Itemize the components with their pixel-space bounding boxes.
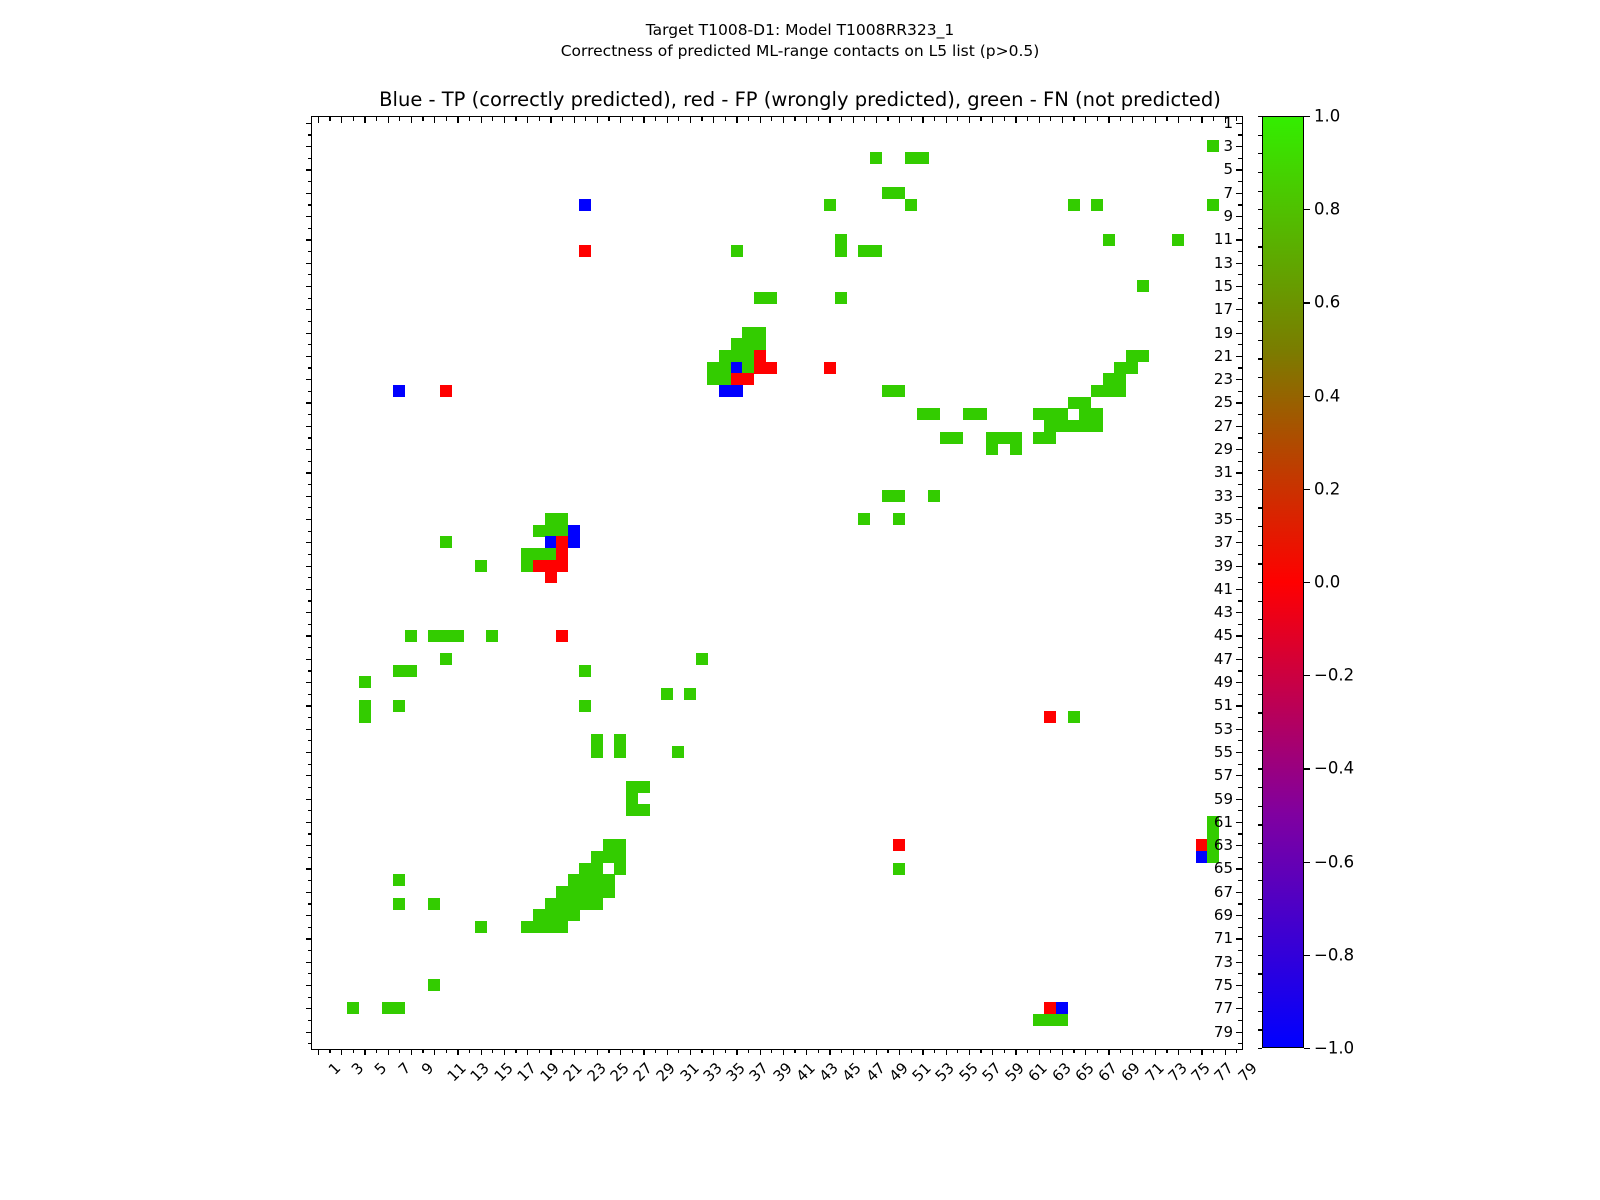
y-axis-tick-right [1238, 391, 1242, 392]
x-axis-tick [411, 1049, 412, 1055]
y-axis-tick [308, 274, 312, 275]
contact-cell [393, 385, 405, 397]
x-axis-tick [853, 1049, 854, 1055]
y-axis-tick-right [1238, 670, 1242, 671]
x-axis-tick [1190, 1049, 1191, 1053]
y-axis-tick [306, 752, 312, 753]
colorbar-minor-tick [1258, 470, 1262, 471]
colorbar-minor-tick [1258, 116, 1262, 117]
y-axis-tick-right [1236, 729, 1242, 730]
contact-cell [1126, 350, 1138, 362]
contact-cell [614, 863, 626, 875]
contact-cell [545, 571, 557, 583]
contact-cell [452, 630, 464, 642]
x-axis-tick-label: 7 [394, 1059, 413, 1078]
x-axis-tick [1039, 1049, 1040, 1055]
contact-cell [986, 443, 998, 455]
y-axis-tick-right [1238, 507, 1242, 508]
colorbar-minor-tick [1258, 973, 1262, 974]
contact-cell [893, 490, 905, 502]
y-axis-tick-label: 51 [1214, 696, 1233, 714]
contact-cell [579, 245, 591, 257]
y-axis-tick-right [1236, 402, 1242, 403]
x-axis-tick-top [667, 117, 668, 123]
x-axis-tick [876, 1049, 877, 1055]
y-axis-tick-label: 43 [1214, 603, 1233, 621]
x-axis-tick [725, 1049, 726, 1053]
x-axis-tick-top [783, 117, 784, 123]
y-axis-tick-right [1238, 577, 1242, 578]
colorbar-tick [1304, 396, 1310, 397]
contact-map-plot: 1133557799111113131515171719192121232325… [311, 116, 1243, 1050]
y-axis-tick-label: 77 [1214, 999, 1233, 1017]
contact-cell [545, 513, 557, 525]
y-axis-tick [308, 600, 312, 601]
y-axis-tick [306, 426, 312, 427]
contact-cell [1068, 420, 1080, 432]
contact-cell [1056, 420, 1068, 432]
y-axis-tick-right [1238, 367, 1242, 368]
y-axis-tick-right [1236, 752, 1242, 753]
x-axis-tick [690, 1049, 691, 1055]
x-axis-tick-label: 29 [653, 1059, 679, 1085]
x-axis-tick-top [1004, 117, 1005, 121]
y-axis-tick-right [1236, 449, 1242, 450]
x-axis-tick [1143, 1049, 1144, 1053]
colorbar-minor-tick [1258, 452, 1262, 453]
contact-cell [1091, 385, 1103, 397]
colorbar-minor-tick [1258, 712, 1262, 713]
contact-cell [359, 711, 371, 723]
contact-cell [1079, 420, 1091, 432]
y-axis-tick-right [1238, 927, 1242, 928]
x-axis-tick-top [504, 117, 505, 123]
contact-cell [858, 245, 870, 257]
y-axis-tick [308, 647, 312, 648]
contact-cell [556, 898, 568, 910]
contact-cell [951, 432, 963, 444]
contact-cell [428, 979, 440, 991]
y-axis-tick [306, 472, 312, 473]
x-axis-tick [806, 1049, 807, 1055]
x-axis-tick-top [957, 117, 958, 121]
y-axis-tick-label: 9 [1223, 207, 1233, 225]
contact-cell [556, 513, 568, 525]
colorbar-minor-tick [1258, 135, 1262, 136]
colorbar-minor-tick [1258, 191, 1262, 192]
contact-cell [486, 630, 498, 642]
contact-cell [870, 245, 882, 257]
colorbar-tick [1304, 116, 1310, 117]
y-axis-tick-label: 11 [1214, 230, 1233, 248]
x-axis-tick [1213, 1049, 1214, 1053]
y-axis-tick-label: 49 [1214, 673, 1233, 691]
x-axis-tick-top [934, 117, 935, 121]
x-axis-tick-top [1073, 117, 1074, 121]
colorbar-minor-tick [1258, 1011, 1262, 1012]
y-axis-tick [306, 566, 312, 567]
y-axis-tick [306, 216, 312, 217]
y-axis-tick-label: 23 [1214, 370, 1233, 388]
y-axis-tick-right [1236, 822, 1242, 823]
y-axis-tick [308, 507, 312, 508]
contact-cell [533, 548, 545, 560]
contact-cell [591, 886, 603, 898]
y-axis-tick [308, 204, 312, 205]
contact-cell [359, 676, 371, 688]
y-axis-tick-right [1236, 519, 1242, 520]
x-axis-tick-top [806, 117, 807, 123]
y-axis-tick-right [1238, 740, 1242, 741]
y-axis-tick-right [1238, 717, 1242, 718]
x-axis-tick [911, 1049, 912, 1053]
x-axis-tick-top [1062, 117, 1063, 123]
x-axis-tick [515, 1049, 516, 1053]
y-axis-tick [306, 985, 312, 986]
y-axis-tick-label: 29 [1214, 440, 1233, 458]
colorbar-tick [1304, 582, 1310, 583]
colorbar-minor-tick [1258, 1048, 1262, 1049]
x-axis-tick-top [341, 117, 342, 123]
contact-cell [405, 665, 417, 677]
contact-cell [835, 292, 847, 304]
contact-cell [545, 909, 557, 921]
contact-cell [1033, 432, 1045, 444]
x-axis-tick-top [760, 117, 761, 123]
contact-cell [742, 338, 754, 350]
contact-cell [835, 234, 847, 246]
y-axis-tick [308, 437, 312, 438]
contact-cell [405, 630, 417, 642]
x-axis-tick-top [922, 117, 923, 123]
y-axis-tick-right [1238, 694, 1242, 695]
x-axis-tick [946, 1049, 947, 1055]
y-axis-tick-right [1238, 414, 1242, 415]
x-axis-tick [597, 1049, 598, 1055]
y-axis-tick-right [1238, 1043, 1242, 1044]
x-axis-tick [864, 1049, 865, 1053]
x-axis-tick [771, 1049, 772, 1053]
x-axis-tick-top [1213, 117, 1214, 121]
y-axis-tick [308, 484, 312, 485]
x-axis-tick-top [539, 117, 540, 121]
colorbar-minor-tick [1258, 955, 1262, 956]
y-axis-tick-right [1236, 845, 1242, 846]
contact-cell [1091, 408, 1103, 420]
x-axis-tick-top [794, 117, 795, 121]
y-axis-tick [306, 729, 312, 730]
colorbar-minor-tick [1258, 563, 1262, 564]
y-axis-tick-right [1238, 997, 1242, 998]
y-axis-tick [306, 938, 312, 939]
y-axis-tick-right [1238, 857, 1242, 858]
contact-cell [765, 292, 777, 304]
x-axis-tick [388, 1049, 389, 1055]
contact-cell [591, 874, 603, 886]
y-axis-tick-right [1238, 810, 1242, 811]
contact-cell [1079, 408, 1091, 420]
colorbar-tick [1304, 209, 1310, 210]
x-axis-tick-top [411, 117, 412, 123]
colorbar-tick [1304, 768, 1310, 769]
contact-cell [521, 548, 533, 560]
contact-cell [614, 734, 626, 746]
x-axis-tick-top [1015, 117, 1016, 123]
x-axis-tick [550, 1049, 551, 1055]
colorbar-tick [1304, 302, 1310, 303]
y-axis-tick [308, 833, 312, 834]
contact-cell [579, 199, 591, 211]
colorbar-minor-tick [1258, 862, 1262, 863]
contact-cell [521, 560, 533, 572]
y-axis-tick-right [1236, 705, 1242, 706]
y-axis-tick-right [1236, 799, 1242, 800]
contact-cell [545, 548, 557, 560]
x-axis-tick-label: 9 [418, 1059, 437, 1078]
y-axis-tick-label: 67 [1214, 883, 1233, 901]
y-axis-tick [308, 391, 312, 392]
x-axis-tick [481, 1049, 482, 1055]
x-axis-tick-top [1039, 117, 1040, 123]
y-axis-tick [306, 775, 312, 776]
y-axis-tick [306, 892, 312, 893]
contact-cell [428, 630, 440, 642]
y-axis-tick [306, 845, 312, 846]
x-axis-tick-top [864, 117, 865, 121]
x-axis-tick-top [748, 117, 749, 121]
x-axis-tick [1062, 1049, 1063, 1055]
y-axis-tick [308, 670, 312, 671]
x-axis-tick [399, 1049, 400, 1053]
contact-cell [591, 898, 603, 910]
contact-cell [1044, 420, 1056, 432]
colorbar-minor-tick [1258, 843, 1262, 844]
colorbar-minor-tick [1258, 1029, 1262, 1030]
x-axis-tick-top [829, 117, 830, 123]
colorbar-tick-label: 0.4 [1314, 386, 1340, 405]
y-axis-tick [306, 612, 312, 613]
y-axis-tick [306, 333, 312, 334]
contact-cell [905, 152, 917, 164]
x-axis-tick [667, 1049, 668, 1055]
contact-cell [1056, 1002, 1068, 1014]
contact-cell [1033, 408, 1045, 420]
contact-cell [731, 338, 743, 350]
colorbar-minor-tick [1258, 284, 1262, 285]
colorbar-minor-tick [1258, 545, 1262, 546]
contact-cell [545, 525, 557, 537]
contact-cell [754, 362, 766, 374]
y-axis-tick-right [1238, 647, 1242, 648]
x-axis-tick-top [911, 117, 912, 121]
x-axis-tick [922, 1049, 923, 1055]
colorbar-minor-tick [1258, 526, 1262, 527]
y-axis-tick-right [1238, 461, 1242, 462]
contact-cell [603, 874, 615, 886]
y-axis-tick-right [1236, 286, 1242, 287]
y-axis-tick-right [1238, 554, 1242, 555]
y-axis-tick [306, 635, 312, 636]
x-axis-tick-top [597, 117, 598, 123]
y-axis-tick-label: 57 [1214, 766, 1233, 784]
y-axis-tick-right [1238, 531, 1242, 532]
y-axis-tick-label: 5 [1223, 160, 1233, 178]
x-axis-tick [1073, 1049, 1074, 1053]
y-axis-tick-right [1236, 169, 1242, 170]
y-axis-tick-label: 35 [1214, 510, 1233, 528]
legend-subtitle: Blue - TP (correctly predicted), red - F… [0, 88, 1600, 111]
x-axis-tick [748, 1049, 749, 1053]
y-axis-tick [308, 554, 312, 555]
y-axis-tick-label: 13 [1214, 254, 1233, 272]
y-axis-tick [306, 263, 312, 264]
contact-cell [731, 245, 743, 257]
x-axis-tick [818, 1049, 819, 1053]
x-axis-tick [422, 1049, 423, 1053]
x-axis-tick-top [1225, 117, 1226, 123]
contact-cell [963, 408, 975, 420]
y-axis-tick [306, 1032, 312, 1033]
contact-cell [1044, 1014, 1056, 1026]
contact-cell [545, 898, 557, 910]
colorbar-minor-tick [1258, 228, 1262, 229]
y-axis-tick-right [1236, 193, 1242, 194]
x-axis-tick-top [853, 117, 854, 123]
contact-cell [428, 898, 440, 910]
colorbar-minor-tick [1258, 601, 1262, 602]
contact-cell [928, 408, 940, 420]
contact-cell [591, 851, 603, 863]
x-axis-tick-top [1108, 117, 1109, 123]
x-axis-tick [446, 1049, 447, 1053]
y-axis-tick [306, 589, 312, 590]
contact-cell [614, 851, 626, 863]
contact-cell [905, 199, 917, 211]
y-axis-tick-label: 17 [1214, 300, 1233, 318]
contact-cell [579, 898, 591, 910]
y-axis-tick-right [1236, 146, 1242, 147]
x-axis-tick-top [562, 117, 563, 121]
x-axis-tick-label: 69 [1118, 1059, 1144, 1085]
x-axis-tick-top [492, 117, 493, 121]
x-axis-tick [329, 1049, 330, 1053]
contact-cell [696, 653, 708, 665]
x-axis-tick-label: 79 [1234, 1059, 1260, 1085]
y-axis-tick-label: 19 [1214, 324, 1233, 342]
contact-cell [1056, 408, 1068, 420]
y-axis-tick [306, 659, 312, 660]
y-axis-tick-right [1236, 1008, 1242, 1009]
x-axis-tick-top [992, 117, 993, 123]
contact-cell [545, 560, 557, 572]
x-axis-tick [585, 1049, 586, 1053]
x-axis-tick [632, 1049, 633, 1053]
y-axis-tick-right [1236, 682, 1242, 683]
y-axis-tick [308, 927, 312, 928]
x-axis-tick-label: 21 [560, 1059, 586, 1085]
x-axis-tick [957, 1049, 958, 1053]
y-axis-tick [308, 1020, 312, 1021]
contact-cell [475, 560, 487, 572]
y-axis-tick-right [1236, 659, 1242, 660]
contact-cell [742, 373, 754, 385]
contact-cell [393, 898, 405, 910]
x-axis-tick [899, 1049, 900, 1055]
x-axis-tick [1132, 1049, 1133, 1055]
contact-cell [638, 781, 650, 793]
x-axis-tick [457, 1049, 458, 1055]
contact-cell [1079, 397, 1091, 409]
x-axis-tick-top [376, 117, 377, 121]
contact-cell [556, 536, 568, 548]
x-axis-tick-top [574, 117, 575, 123]
colorbar-tick-label: −0.4 [1314, 759, 1354, 778]
x-axis-tick-top [1143, 117, 1144, 121]
y-axis-tick-right [1238, 950, 1242, 951]
x-axis-tick [504, 1049, 505, 1055]
contact-cell [719, 362, 731, 374]
contact-cell [754, 338, 766, 350]
contact-cell [1056, 1014, 1068, 1026]
y-axis-tick [308, 531, 312, 532]
x-axis-tick [539, 1049, 540, 1053]
y-axis-tick [308, 344, 312, 345]
contact-cell [591, 734, 603, 746]
y-axis-tick-right [1236, 216, 1242, 217]
colorbar-tick-label: 0.6 [1314, 293, 1340, 312]
x-axis-tick-top [632, 117, 633, 121]
colorbar-minor-tick [1258, 880, 1262, 881]
y-axis-tick-right [1236, 426, 1242, 427]
contact-cell [731, 362, 743, 374]
y-axis-tick-right [1236, 566, 1242, 567]
contact-cell [568, 898, 580, 910]
x-axis-tick [434, 1049, 435, 1055]
x-axis-tick-top [434, 117, 435, 123]
colorbar-tick-label: −0.2 [1314, 666, 1354, 685]
contact-cell [1207, 140, 1219, 152]
x-axis-tick-top [1097, 117, 1098, 121]
y-axis-tick-right [1236, 635, 1242, 636]
title-line-2: Correctness of predicted ML-range contac… [0, 41, 1600, 62]
contact-cell [765, 362, 777, 374]
contact-cell [731, 373, 743, 385]
colorbar-minor-tick [1258, 918, 1262, 919]
y-axis-tick-right [1236, 915, 1242, 916]
y-axis-tick-right [1236, 938, 1242, 939]
contact-cell [917, 152, 929, 164]
y-axis-tick [306, 169, 312, 170]
contact-cell [1196, 851, 1208, 863]
x-axis-tick-top [771, 117, 772, 121]
y-axis-tick-right [1236, 542, 1242, 543]
y-axis-tick [306, 962, 312, 963]
colorbar-tick [1304, 1048, 1310, 1049]
x-axis-tick [655, 1049, 656, 1053]
x-axis-tick [620, 1049, 621, 1055]
y-axis-tick-right [1236, 309, 1242, 310]
y-axis-tick-right [1238, 158, 1242, 159]
y-axis-tick [308, 461, 312, 462]
colorbar-tick-label: 0.8 [1314, 200, 1340, 219]
x-axis-tick-label: 13 [467, 1059, 493, 1085]
contact-cell [556, 909, 568, 921]
contact-cell [440, 653, 452, 665]
y-axis-tick-right [1238, 484, 1242, 485]
contact-cell [928, 490, 940, 502]
y-axis-tick-right [1238, 1020, 1242, 1021]
x-axis-tick-top [1027, 117, 1028, 121]
